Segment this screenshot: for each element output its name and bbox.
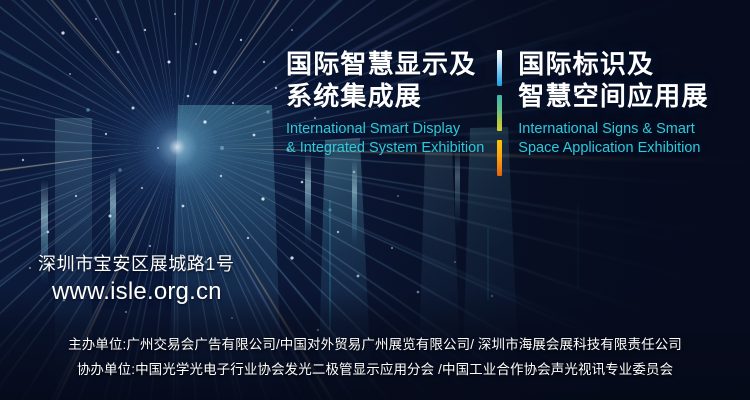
- isle-exhibition-banner: 国际智慧显示及 系统集成展 International Smart Displa…: [0, 0, 750, 400]
- left-title-en-block: International Smart Display & Integrated…: [286, 120, 484, 157]
- left-title-en-line-2: & Integrated System Exhibition: [286, 139, 484, 158]
- divider-bar-orange: [497, 140, 502, 176]
- right-title-cn-line-1: 国际标识及: [518, 48, 708, 80]
- organizer-footer: 主办单位:广州交易会广告有限公司/中国对外贸易广州展览有限公司/ 深圳市海展会展…: [0, 332, 750, 382]
- venue-info: 深圳市宝安区展城路1号 www.isle.org.cn: [38, 252, 235, 307]
- left-title-cn-line-2: 系统集成展: [286, 80, 484, 112]
- left-title-cn-line-1: 国际智慧显示及: [286, 48, 484, 80]
- right-title-en-block: International Signs & Smart Space Applic…: [518, 120, 708, 157]
- venue-website[interactable]: www.isle.org.cn: [52, 277, 235, 307]
- divider-bar-blue: [497, 50, 502, 86]
- venue-address: 深圳市宝安区展城路1号: [38, 252, 235, 276]
- right-title-cn-line-2: 智慧空间应用展: [518, 80, 708, 112]
- divider-bar-green: [497, 95, 502, 131]
- organizer-line: 主办单位:广州交易会广告有限公司/中国对外贸易广州展览有限公司/ 深圳市海展会展…: [0, 332, 750, 357]
- right-title-en-line-2: Space Application Exhibition: [518, 139, 708, 158]
- right-title-en-line-1: International Signs & Smart: [518, 120, 708, 139]
- exhibition-title-area: 国际智慧显示及 系统集成展 International Smart Displa…: [286, 48, 709, 157]
- title-divider: [484, 48, 518, 157]
- co-organizer-line: 协办单位:中国光学光电子行业协会发光二极管显示应用分会 /中国工业合作协会声光视…: [0, 357, 750, 382]
- left-exhibition-title: 国际智慧显示及 系统集成展 International Smart Displa…: [286, 48, 484, 157]
- right-exhibition-title: 国际标识及 智慧空间应用展 International Signs & Smar…: [518, 48, 708, 157]
- left-title-en-line-1: International Smart Display: [286, 120, 484, 139]
